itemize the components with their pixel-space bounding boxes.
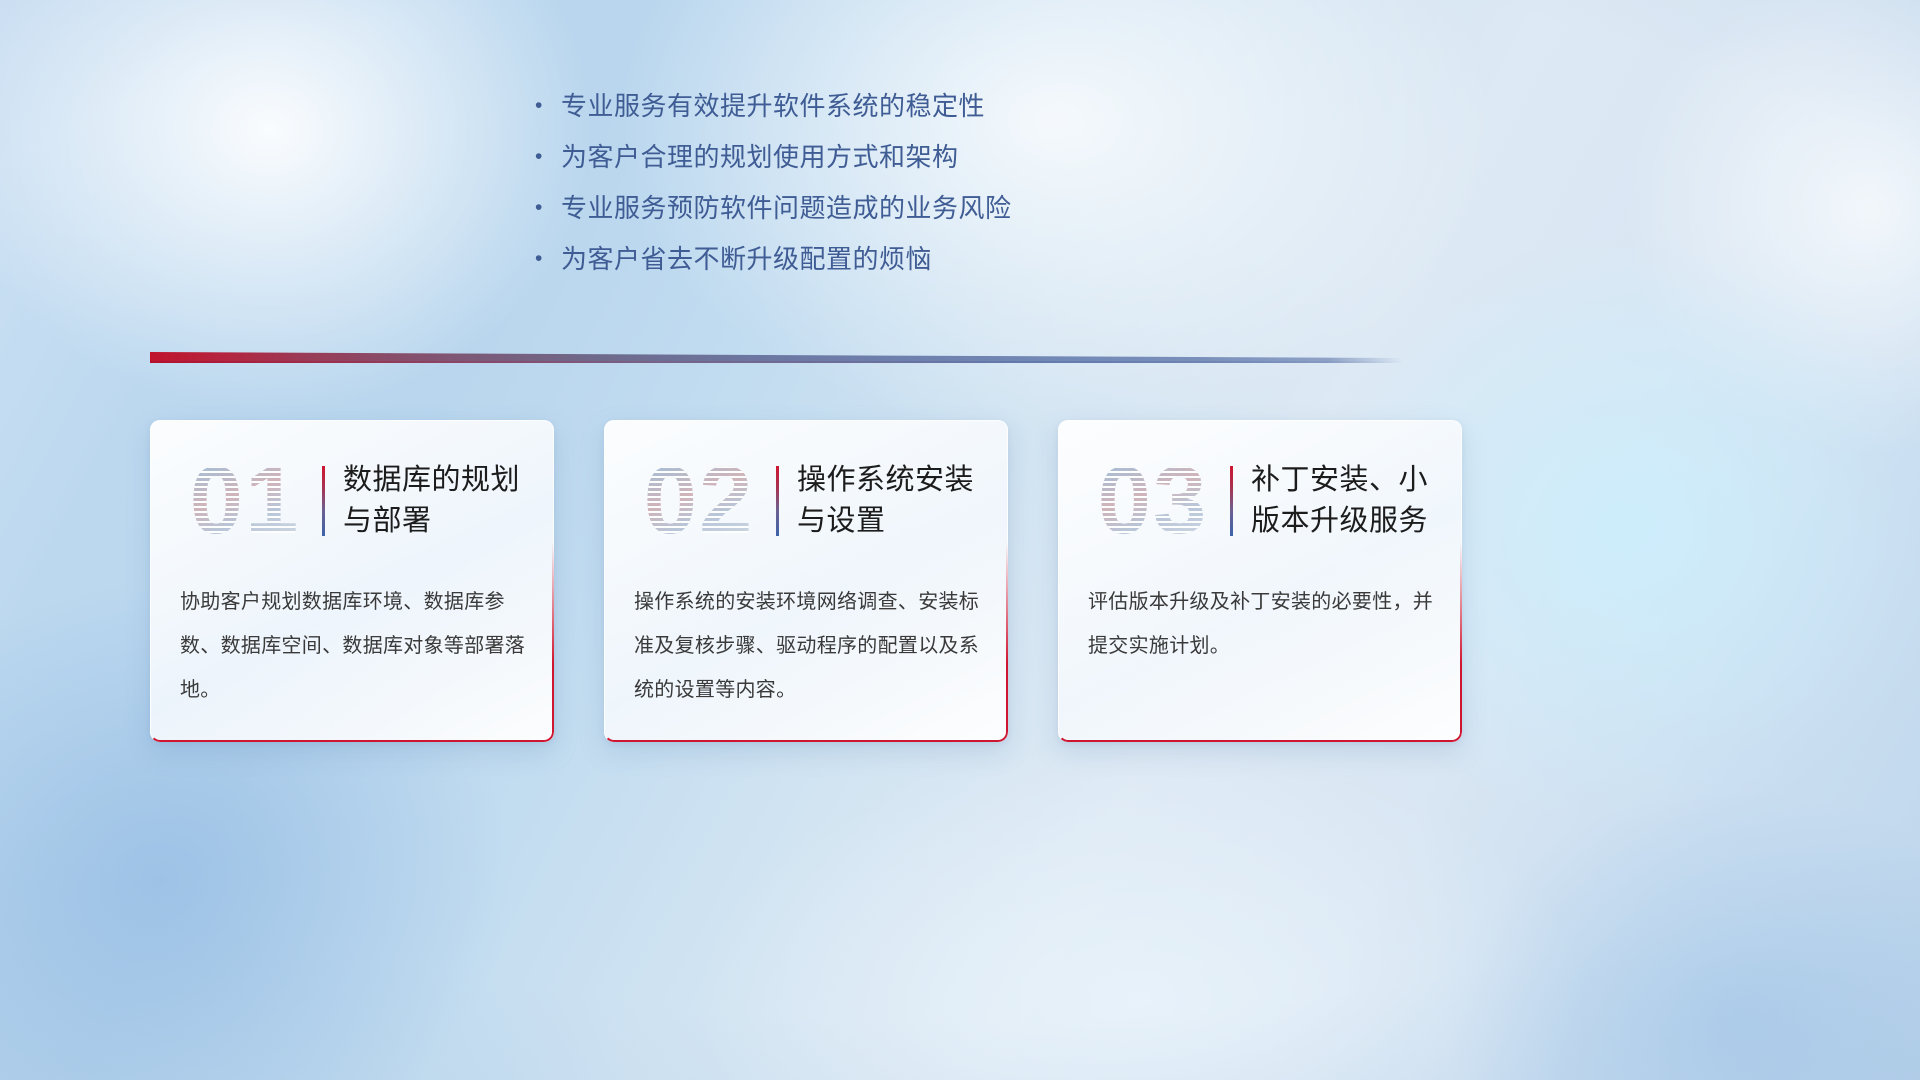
list-item: • 专业服务有效提升软件系统的稳定性	[535, 88, 1235, 139]
card-number-watermark: 02	[624, 446, 774, 556]
bullet-text-3: 专业服务预防软件问题造成的业务风险	[561, 190, 1012, 226]
card-header: 02 操作系统安装 与设置	[604, 440, 1008, 562]
card-divider-rule	[776, 466, 779, 536]
card-title-line-2: 与设置	[797, 501, 996, 542]
card-header: 03 补丁安装、小 版本升级服务	[1058, 440, 1462, 562]
card-body-text: 操作系统的安装环境网络调查、安装标准及复核步骤、驱动程序的配置以及系统的设置等内…	[634, 580, 982, 712]
card-title: 数据库的规划 与部署	[343, 460, 554, 542]
bullet-text-2: 为客户合理的规划使用方式和架构	[561, 139, 959, 175]
card-title-line-1: 操作系统安装	[797, 460, 996, 501]
card-number-watermark: 01	[170, 446, 320, 556]
service-card-02[interactable]: 02 操作系统安装 与设置 操作系统的安装环境网络调查、安装标准及复核步骤、驱动…	[604, 420, 1008, 742]
card-header: 01 数据库的规划 与部署	[150, 440, 554, 562]
card-title-line-2: 版本升级服务	[1251, 501, 1450, 542]
card-title: 补丁安装、小 版本升级服务	[1251, 460, 1462, 542]
section-divider	[150, 352, 1403, 363]
card-title: 操作系统安装 与设置	[797, 460, 1008, 542]
divider-hairline	[150, 361, 1403, 363]
benefits-bullet-list: • 专业服务有效提升软件系统的稳定性 • 为客户合理的规划使用方式和架构 • 专…	[535, 88, 1235, 292]
background-glow-bottom-right	[1330, 700, 1920, 1080]
service-card-group: 01 数据库的规划 与部署 协助客户规划数据库环境、数据库参数、数据库空间、数据…	[150, 420, 1462, 745]
card-body-text: 协助客户规划数据库环境、数据库参数、数据库空间、数据库对象等部署落地。	[180, 580, 528, 712]
slide-canvas: • 专业服务有效提升软件系统的稳定性 • 为客户合理的规划使用方式和架构 • 专…	[0, 0, 1920, 1080]
service-card-01[interactable]: 01 数据库的规划 与部署 协助客户规划数据库环境、数据库参数、数据库空间、数据…	[150, 420, 554, 742]
card-divider-rule	[1230, 466, 1233, 536]
card-body-text: 评估版本升级及补丁安装的必要性，并提交实施计划。	[1088, 580, 1436, 668]
card-number-watermark: 03	[1078, 446, 1228, 556]
bullet-marker-icon: •	[535, 139, 561, 175]
service-card-03[interactable]: 03 补丁安装、小 版本升级服务 评估版本升级及补丁安装的必要性，并提交实施计划…	[1058, 420, 1462, 742]
list-item: • 为客户合理的规划使用方式和架构	[535, 139, 1235, 190]
list-item: • 专业服务预防软件问题造成的业务风险	[535, 190, 1235, 241]
bullet-text-4: 为客户省去不断升级配置的烦恼	[561, 241, 932, 277]
bullet-marker-icon: •	[535, 241, 561, 277]
card-title-line-1: 补丁安装、小	[1251, 460, 1450, 501]
card-title-line-2: 与部署	[343, 501, 542, 542]
card-divider-rule	[322, 466, 325, 536]
card-title-line-1: 数据库的规划	[343, 460, 542, 501]
bullet-marker-icon: •	[535, 88, 561, 124]
background-glow-top-right	[1520, 0, 1920, 560]
list-item: • 为客户省去不断升级配置的烦恼	[535, 241, 1235, 292]
bullet-text-1: 专业服务有效提升软件系统的稳定性	[561, 88, 985, 124]
bullet-marker-icon: •	[535, 190, 561, 226]
